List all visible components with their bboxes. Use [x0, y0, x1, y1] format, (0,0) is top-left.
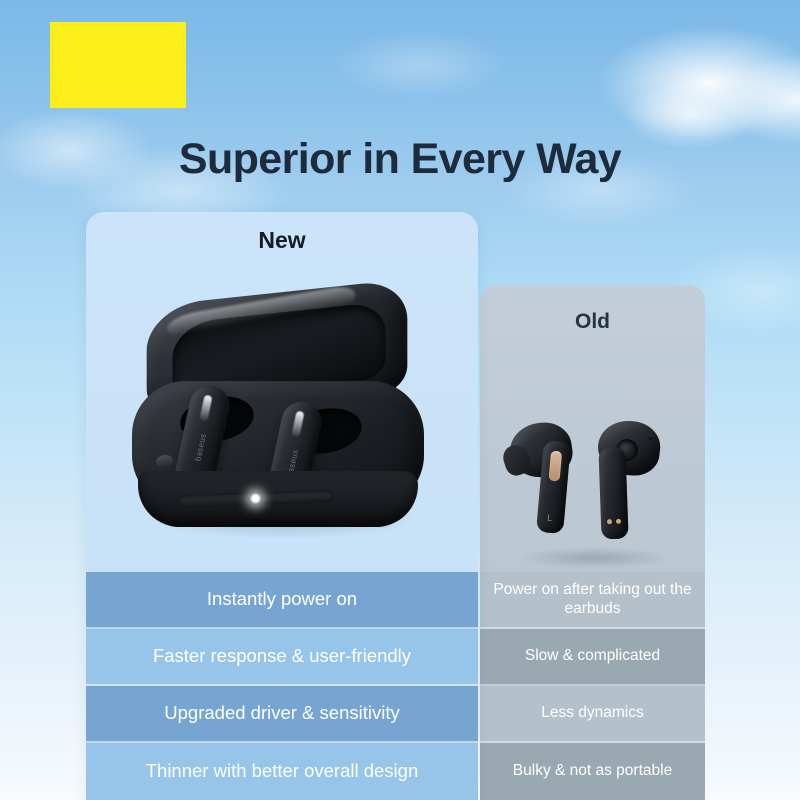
feature-row-new: Upgraded driver & sensitivity — [86, 686, 478, 743]
feature-row-old: Slow & complicated — [480, 629, 705, 686]
product-image-old: L — [480, 345, 705, 573]
led-indicator — [250, 493, 261, 504]
column-title-new: New — [86, 227, 478, 254]
old-earbuds-art: L — [502, 419, 686, 569]
feature-row-new: Faster response & user-friendly — [86, 629, 478, 686]
charging-contact — [549, 451, 563, 482]
feature-row-old: Power on after taking out the earbuds — [480, 572, 705, 629]
earbud-brand-text: baseus — [193, 430, 209, 465]
infographic-page: Superior in Every Way Old L — [0, 0, 800, 800]
earbud-highlight — [291, 411, 304, 438]
feature-rows-new: Instantly power on Faster response & use… — [86, 572, 478, 800]
channel-marking-left: L — [547, 513, 553, 523]
feature-row-old: Bulky & not as portable — [480, 743, 705, 800]
feature-row-old: Less dynamics — [480, 686, 705, 743]
feature-rows-old: Power on after taking out the earbuds Sl… — [480, 572, 705, 800]
product-image-new: baseus baseus — [86, 267, 478, 572]
new-charging-case-art: baseus baseus — [122, 285, 442, 565]
pogo-pin — [616, 519, 621, 524]
earbud-highlight — [199, 395, 212, 422]
feature-row-new: Thinner with better overall design — [86, 743, 478, 800]
comparison-column-new: New baseus baseus — [86, 212, 478, 800]
cloud-decoration — [300, 20, 540, 110]
drop-shadow — [518, 547, 670, 569]
brand-logo — [50, 22, 186, 108]
column-title-old: Old — [480, 310, 705, 334]
page-title: Superior in Every Way — [0, 135, 800, 184]
earbud-stem — [598, 447, 628, 540]
comparison-column-old: Old L — [480, 285, 705, 800]
pogo-pin — [607, 519, 612, 524]
feature-row-new: Instantly power on — [86, 572, 478, 629]
microphone-hole — [648, 435, 653, 440]
